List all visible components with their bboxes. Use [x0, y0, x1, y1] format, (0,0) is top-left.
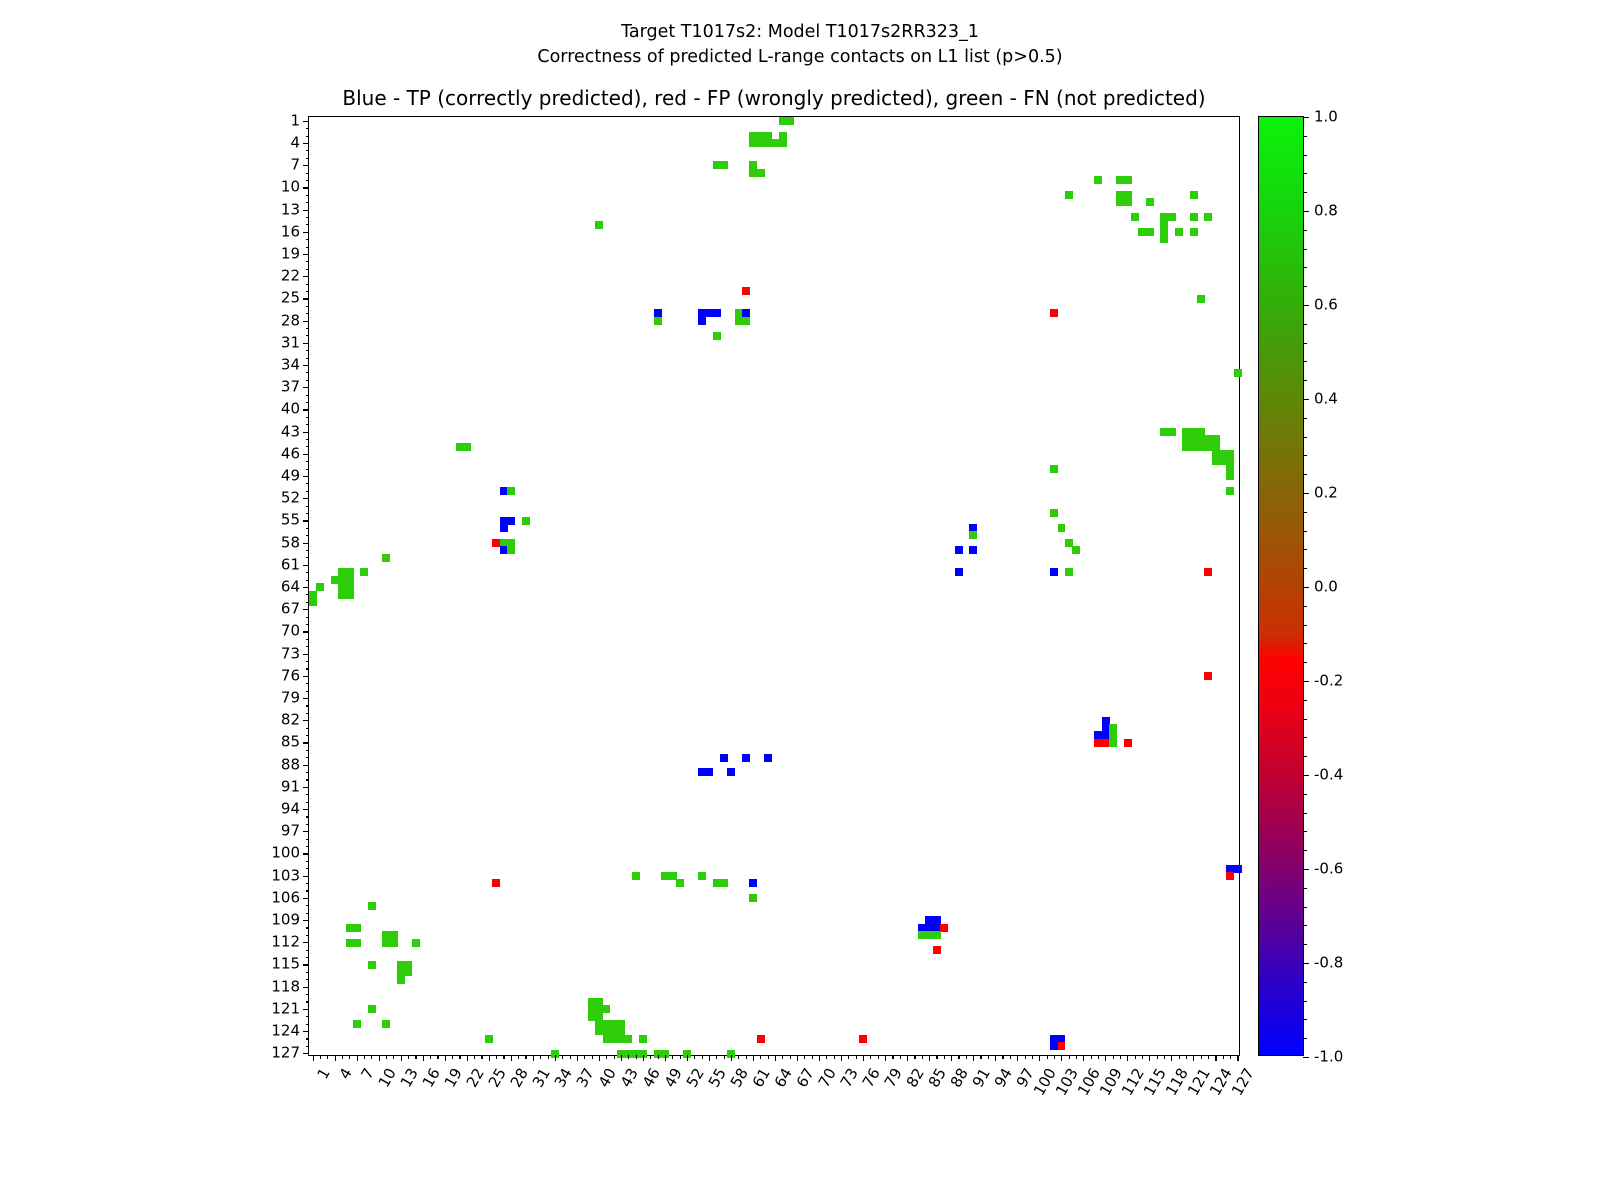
contact-cells-layer	[309, 117, 1239, 1055]
y-axis-tick	[306, 557, 310, 558]
y-axis-tick	[306, 513, 310, 514]
x-axis-tick	[459, 1055, 460, 1059]
x-axis-tick	[555, 1055, 556, 1061]
y-axis-tick	[306, 750, 310, 751]
x-axis-tick	[467, 1055, 468, 1061]
y-axis-tick	[303, 365, 309, 366]
x-axis-tick	[1120, 1055, 1121, 1059]
x-axis-tick	[848, 1055, 849, 1059]
contact-cell-fn	[1190, 228, 1198, 236]
colorbar-tick-label: -0.8	[1314, 956, 1343, 971]
contact-cell-fn	[1109, 739, 1117, 747]
y-axis-label: 91	[281, 779, 300, 794]
contact-cell-fn	[639, 1035, 647, 1043]
x-axis-tick	[922, 1055, 923, 1059]
colorbar-minor-tick	[1303, 512, 1307, 513]
x-axis-tick	[1017, 1055, 1018, 1061]
y-axis-label: 85	[281, 735, 300, 750]
y-axis-tick	[306, 772, 310, 773]
colorbar-tick	[1303, 775, 1309, 776]
y-axis-tick	[303, 454, 309, 455]
y-axis-tick	[306, 313, 310, 314]
contact-cell-fn	[485, 1035, 493, 1043]
colorbar-gradient	[1259, 117, 1303, 1055]
x-axis-tick	[357, 1055, 358, 1061]
y-axis-tick	[306, 261, 310, 262]
colorbar-minor-tick	[1303, 230, 1307, 231]
y-axis-tick	[306, 424, 310, 425]
y-axis-label: 124	[271, 1024, 300, 1039]
colorbar-tick	[1303, 869, 1309, 870]
x-axis-tick	[819, 1055, 820, 1061]
colorbar-minor-tick	[1303, 813, 1307, 814]
figure-suptitle: Target T1017s2: Model T1017s2RR323_1 Cor…	[0, 20, 1600, 70]
colorbar-minor-tick	[1303, 850, 1307, 851]
y-axis-label: 31	[281, 335, 300, 350]
x-axis-tick	[592, 1055, 593, 1059]
y-axis-tick	[303, 165, 309, 166]
contact-cell-fn	[368, 902, 376, 910]
y-axis-tick	[306, 617, 310, 618]
y-axis-tick	[306, 483, 310, 484]
x-axis-tick	[775, 1055, 776, 1061]
colorbar-minor-tick	[1303, 606, 1307, 607]
colorbar-minor-tick	[1303, 155, 1307, 156]
x-axis-label: 85	[927, 1066, 950, 1090]
y-axis-tick	[306, 128, 310, 129]
colorbar-minor-tick	[1303, 719, 1307, 720]
x-axis-tick	[907, 1055, 908, 1061]
contact-cell-fn	[1124, 198, 1132, 206]
y-axis-tick	[306, 816, 310, 817]
x-axis-tick	[760, 1055, 761, 1059]
colorbar-minor-tick	[1303, 249, 1307, 250]
y-axis-tick	[303, 1031, 309, 1032]
x-axis-tick	[533, 1055, 534, 1061]
x-axis-label: 91	[971, 1066, 994, 1090]
x-axis-tick	[716, 1055, 717, 1059]
y-axis-label: 121	[271, 1001, 300, 1016]
contact-cell-fp	[940, 924, 948, 932]
contact-cell-fn	[1065, 568, 1073, 576]
contact-cell-fp	[492, 879, 500, 887]
colorbar-minor-tick	[1303, 361, 1307, 362]
x-axis-tick	[892, 1055, 893, 1059]
x-axis-tick	[709, 1055, 710, 1061]
x-axis-tick	[914, 1055, 915, 1059]
x-axis-tick	[599, 1055, 600, 1061]
x-axis-tick	[724, 1055, 725, 1059]
y-axis-tick	[306, 824, 310, 825]
x-axis-tick	[966, 1055, 967, 1059]
x-axis-tick	[650, 1055, 651, 1059]
contact-cell-fp	[933, 946, 941, 954]
x-axis-tick	[746, 1055, 747, 1059]
y-axis-label: 7	[290, 158, 300, 173]
contact-cell-fn	[390, 939, 398, 947]
contact-cell-tp	[764, 754, 772, 762]
x-axis-tick	[393, 1055, 394, 1059]
y-axis-tick	[306, 913, 310, 914]
y-axis-tick	[303, 187, 309, 188]
y-axis-tick	[306, 328, 310, 329]
colorbar-tick-label: -0.6	[1314, 862, 1343, 877]
y-axis-tick	[303, 143, 309, 144]
contact-cell-fn	[353, 939, 361, 947]
colorbar-minor-tick	[1303, 625, 1307, 626]
contact-cell-fn	[360, 568, 368, 576]
y-axis-label: 49	[281, 468, 300, 483]
y-axis-tick	[306, 173, 310, 174]
contact-cell-tp	[1050, 568, 1058, 576]
x-axis-tick	[1149, 1055, 1150, 1061]
y-axis-tick	[306, 158, 310, 159]
colorbar-tick	[1303, 587, 1309, 588]
x-axis-tick	[731, 1055, 732, 1061]
x-axis-tick	[628, 1055, 629, 1059]
contact-cell-fn	[463, 443, 471, 451]
x-axis-tick	[826, 1055, 827, 1059]
colorbar-tick-label: 0.6	[1314, 298, 1338, 313]
contact-cell-fn	[749, 894, 757, 902]
x-axis-tick	[1083, 1055, 1084, 1061]
colorbar-minor-tick	[1303, 343, 1307, 344]
x-axis-tick	[885, 1055, 886, 1061]
y-axis-label: 88	[281, 757, 300, 772]
x-axis-tick	[577, 1055, 578, 1061]
y-axis-label: 100	[271, 846, 300, 861]
x-axis-tick	[1039, 1055, 1040, 1061]
y-axis-tick	[306, 705, 310, 706]
y-axis-label: 103	[271, 868, 300, 883]
y-axis-tick	[306, 905, 310, 906]
x-axis-tick	[320, 1055, 321, 1059]
y-axis-label: 52	[281, 491, 300, 506]
y-axis-tick	[303, 565, 309, 566]
x-axis-tick	[782, 1055, 783, 1059]
y-axis-tick	[303, 698, 309, 699]
y-axis-tick	[306, 446, 310, 447]
x-axis-label: 82	[905, 1066, 928, 1090]
colorbar-minor-tick	[1303, 136, 1307, 137]
colorbar-minor-tick	[1303, 437, 1307, 438]
x-axis-tick	[1069, 1055, 1070, 1059]
x-axis-label: 43	[618, 1066, 641, 1090]
contact-cell-fn	[1190, 191, 1198, 199]
y-axis-tick	[303, 987, 309, 988]
contact-cell-fp	[1124, 739, 1132, 747]
y-axis-tick	[306, 683, 310, 684]
y-axis-label: 115	[271, 957, 300, 972]
y-axis-tick	[306, 528, 310, 529]
x-axis-tick	[1105, 1055, 1106, 1061]
colorbar-minor-tick	[1303, 549, 1307, 550]
contact-cell-fn	[316, 583, 324, 591]
contact-cell-fn	[353, 924, 361, 932]
x-axis-tick	[856, 1055, 857, 1059]
x-axis-tick	[1193, 1055, 1194, 1061]
contact-cell-fn	[933, 931, 941, 939]
x-axis-tick	[768, 1055, 769, 1059]
x-axis-tick	[973, 1055, 974, 1061]
x-axis-tick	[834, 1055, 835, 1059]
y-axis-label: 34	[281, 357, 300, 372]
x-axis-tick	[841, 1055, 842, 1061]
contact-cell-fn	[1190, 213, 1198, 221]
colorbar-tick-label: 0.2	[1314, 486, 1338, 501]
colorbar-tick-label: -0.4	[1314, 768, 1343, 783]
contact-cell-fn	[654, 317, 662, 325]
y-axis-tick	[306, 639, 310, 640]
y-axis-tick	[306, 883, 310, 884]
x-axis-label: 55	[706, 1066, 729, 1090]
colorbar-minor-tick	[1303, 1019, 1307, 1020]
x-axis-tick	[540, 1055, 541, 1059]
x-axis-tick	[672, 1055, 673, 1059]
colorbar-tick	[1303, 117, 1309, 118]
contact-cell-fn	[1175, 228, 1183, 236]
x-axis-label: 10	[376, 1066, 399, 1090]
colorbar-tick-label: 0.8	[1314, 204, 1338, 219]
contact-cell-fn	[507, 546, 515, 554]
x-axis-tick	[415, 1055, 416, 1059]
y-axis-tick	[306, 506, 310, 507]
contact-cell-fn	[742, 317, 750, 325]
x-axis-tick	[481, 1055, 482, 1059]
x-axis-tick	[797, 1055, 798, 1061]
x-axis-label: 76	[861, 1066, 884, 1090]
x-axis-tick	[702, 1055, 703, 1059]
colorbar-tick	[1303, 963, 1309, 964]
y-axis-tick	[303, 720, 309, 721]
y-axis-tick	[306, 269, 310, 270]
x-axis-label: 25	[486, 1066, 509, 1090]
contact-cell-tp	[1234, 865, 1242, 873]
contact-cell-fp	[757, 1035, 765, 1043]
contact-cell-fp	[1050, 309, 1058, 317]
x-axis-tick	[430, 1055, 431, 1059]
y-axis-tick	[306, 247, 310, 248]
x-axis-tick	[870, 1055, 871, 1059]
y-axis-label: 82	[281, 713, 300, 728]
y-axis-tick	[306, 757, 310, 758]
x-axis-tick	[1061, 1055, 1062, 1061]
contact-cell-tp	[955, 546, 963, 554]
x-axis-label: 19	[442, 1066, 465, 1090]
x-axis-label: 67	[794, 1066, 817, 1090]
x-axis-tick	[496, 1055, 497, 1059]
y-axis-tick	[303, 254, 309, 255]
x-axis-label: 127	[1230, 1066, 1257, 1098]
x-axis-tick	[1025, 1055, 1026, 1059]
y-axis-tick	[306, 802, 310, 803]
x-axis-tick	[452, 1055, 453, 1059]
y-axis-tick	[303, 298, 309, 299]
x-axis-tick	[1047, 1055, 1048, 1059]
contact-cell-tp	[727, 768, 735, 776]
y-axis-label: 19	[281, 246, 300, 261]
y-axis-label: 70	[281, 624, 300, 639]
y-axis-label: 1	[290, 113, 300, 128]
colorbar-tick	[1303, 1057, 1309, 1058]
contact-cell-fn	[1197, 295, 1205, 303]
y-axis-label: 55	[281, 513, 300, 528]
x-axis-tick	[1157, 1055, 1158, 1059]
y-axis-tick	[303, 121, 309, 122]
colorbar-minor-tick	[1303, 907, 1307, 908]
colorbar-minor-tick	[1303, 1001, 1307, 1002]
x-axis-tick	[1127, 1055, 1128, 1061]
y-axis-tick	[306, 439, 310, 440]
contact-cell-fn	[757, 169, 765, 177]
x-axis-tick	[401, 1055, 402, 1061]
y-axis-tick	[306, 136, 310, 137]
y-axis-label: 64	[281, 580, 300, 595]
x-axis-label: 52	[684, 1066, 707, 1090]
contact-cell-fp	[859, 1035, 867, 1043]
x-axis-tick	[753, 1055, 754, 1061]
colorbar-minor-tick	[1303, 944, 1307, 945]
colorbar-minor-tick	[1303, 531, 1307, 532]
contact-cell-fn	[382, 554, 390, 562]
y-axis-label: 106	[271, 890, 300, 905]
contact-cell-fn	[1050, 465, 1058, 473]
y-axis-tick	[306, 713, 310, 714]
y-axis-tick	[303, 609, 309, 610]
contact-cell-fn	[368, 961, 376, 969]
y-axis-tick	[303, 387, 309, 388]
x-axis-tick	[1010, 1055, 1011, 1059]
x-axis-tick	[958, 1055, 959, 1059]
y-axis-tick	[306, 1001, 310, 1002]
y-axis-tick	[306, 957, 310, 958]
y-axis-tick	[303, 964, 309, 965]
y-axis-label: 67	[281, 602, 300, 617]
x-axis-tick	[1135, 1055, 1136, 1059]
y-axis-tick	[306, 202, 310, 203]
colorbar-minor-tick	[1303, 662, 1307, 663]
x-axis-label: 94	[993, 1066, 1016, 1090]
contact-cell-fn	[1168, 428, 1176, 436]
y-axis-tick	[303, 765, 309, 766]
x-axis-tick	[423, 1055, 424, 1061]
y-axis-tick	[303, 631, 309, 632]
x-axis-tick	[790, 1055, 791, 1059]
x-axis-label: 13	[398, 1066, 421, 1090]
y-axis-label: 109	[271, 913, 300, 928]
y-axis-tick	[303, 587, 309, 588]
y-axis-tick	[303, 831, 309, 832]
y-axis-tick	[306, 195, 310, 196]
x-axis-tick	[1098, 1055, 1099, 1059]
contact-cell-fn	[309, 598, 317, 606]
x-axis-label: 31	[530, 1066, 553, 1090]
contact-cell-fn	[397, 976, 405, 984]
y-axis-label: 13	[281, 202, 300, 217]
x-axis-tick	[379, 1055, 380, 1061]
colorbar-tick-label: -1.0	[1314, 1050, 1343, 1065]
colorbar-minor-tick	[1303, 888, 1307, 889]
y-axis-tick	[306, 728, 310, 729]
y-axis-tick	[306, 150, 310, 151]
x-axis-label: 16	[420, 1066, 443, 1090]
y-axis-tick	[306, 1046, 310, 1047]
contact-cell-fn	[625, 1035, 633, 1043]
x-axis-tick	[863, 1055, 864, 1061]
contact-cell-fn	[1226, 487, 1234, 495]
x-axis-tick	[1091, 1055, 1092, 1059]
contact-cell-fn	[1094, 176, 1102, 184]
x-axis-label: 28	[508, 1066, 531, 1090]
x-axis-tick	[525, 1055, 526, 1059]
x-axis-tick	[1230, 1055, 1231, 1059]
y-axis-tick	[306, 594, 310, 595]
x-axis-tick	[680, 1055, 681, 1059]
x-axis-tick	[313, 1055, 314, 1061]
y-axis-tick	[303, 232, 309, 233]
contact-map-plot-area[interactable]: 1471013161922252831343740434649525558616…	[308, 116, 1240, 1056]
x-axis-label: 61	[750, 1066, 773, 1090]
y-axis-tick	[306, 661, 310, 662]
colorbar-tick-label: 0.4	[1314, 392, 1338, 407]
contact-cell-tp	[507, 517, 515, 525]
colorbar-minor-tick	[1303, 474, 1307, 475]
x-axis-tick	[349, 1055, 350, 1059]
contact-cell-fn	[720, 879, 728, 887]
x-axis-tick	[980, 1055, 981, 1059]
y-axis-tick	[306, 861, 310, 862]
y-axis-tick	[306, 491, 310, 492]
contact-cell-fn	[353, 1020, 361, 1028]
contact-cell-fn	[595, 221, 603, 229]
x-axis-tick	[1171, 1055, 1172, 1061]
contact-cell-fn	[1050, 509, 1058, 517]
y-axis-label: 58	[281, 535, 300, 550]
y-axis-label: 118	[271, 979, 300, 994]
y-axis-tick	[306, 417, 310, 418]
colorbar-minor-tick	[1303, 568, 1307, 569]
y-axis-label: 16	[281, 224, 300, 239]
colorbar-minor-tick	[1303, 982, 1307, 983]
y-axis-tick	[303, 210, 309, 211]
x-axis-tick	[995, 1055, 996, 1061]
y-axis-tick	[306, 994, 310, 995]
contact-cell-fn	[969, 531, 977, 539]
x-axis-label: 7	[359, 1066, 377, 1082]
contact-cell-tp	[720, 754, 728, 762]
x-axis-tick	[1208, 1055, 1209, 1059]
colorbar-tick-label: 1.0	[1314, 110, 1338, 125]
y-axis-label: 76	[281, 668, 300, 683]
x-axis-label: 49	[662, 1066, 685, 1090]
contact-cell-fn	[1131, 213, 1139, 221]
contact-cell-fn	[1072, 546, 1080, 554]
y-axis-tick	[306, 395, 310, 396]
y-axis-tick	[303, 321, 309, 322]
y-axis-tick	[306, 580, 310, 581]
x-axis-label: 34	[552, 1066, 575, 1090]
contact-cell-fn	[1234, 369, 1242, 377]
x-axis-tick	[988, 1055, 989, 1059]
y-axis-tick	[306, 927, 310, 928]
y-axis-label: 10	[281, 180, 300, 195]
y-axis-tick	[303, 876, 309, 877]
x-axis-label: 1	[315, 1066, 333, 1082]
x-axis-tick	[687, 1055, 688, 1061]
x-axis-label: 46	[640, 1066, 663, 1090]
contact-cell-fp	[1226, 872, 1234, 880]
x-axis-tick	[1201, 1055, 1202, 1059]
